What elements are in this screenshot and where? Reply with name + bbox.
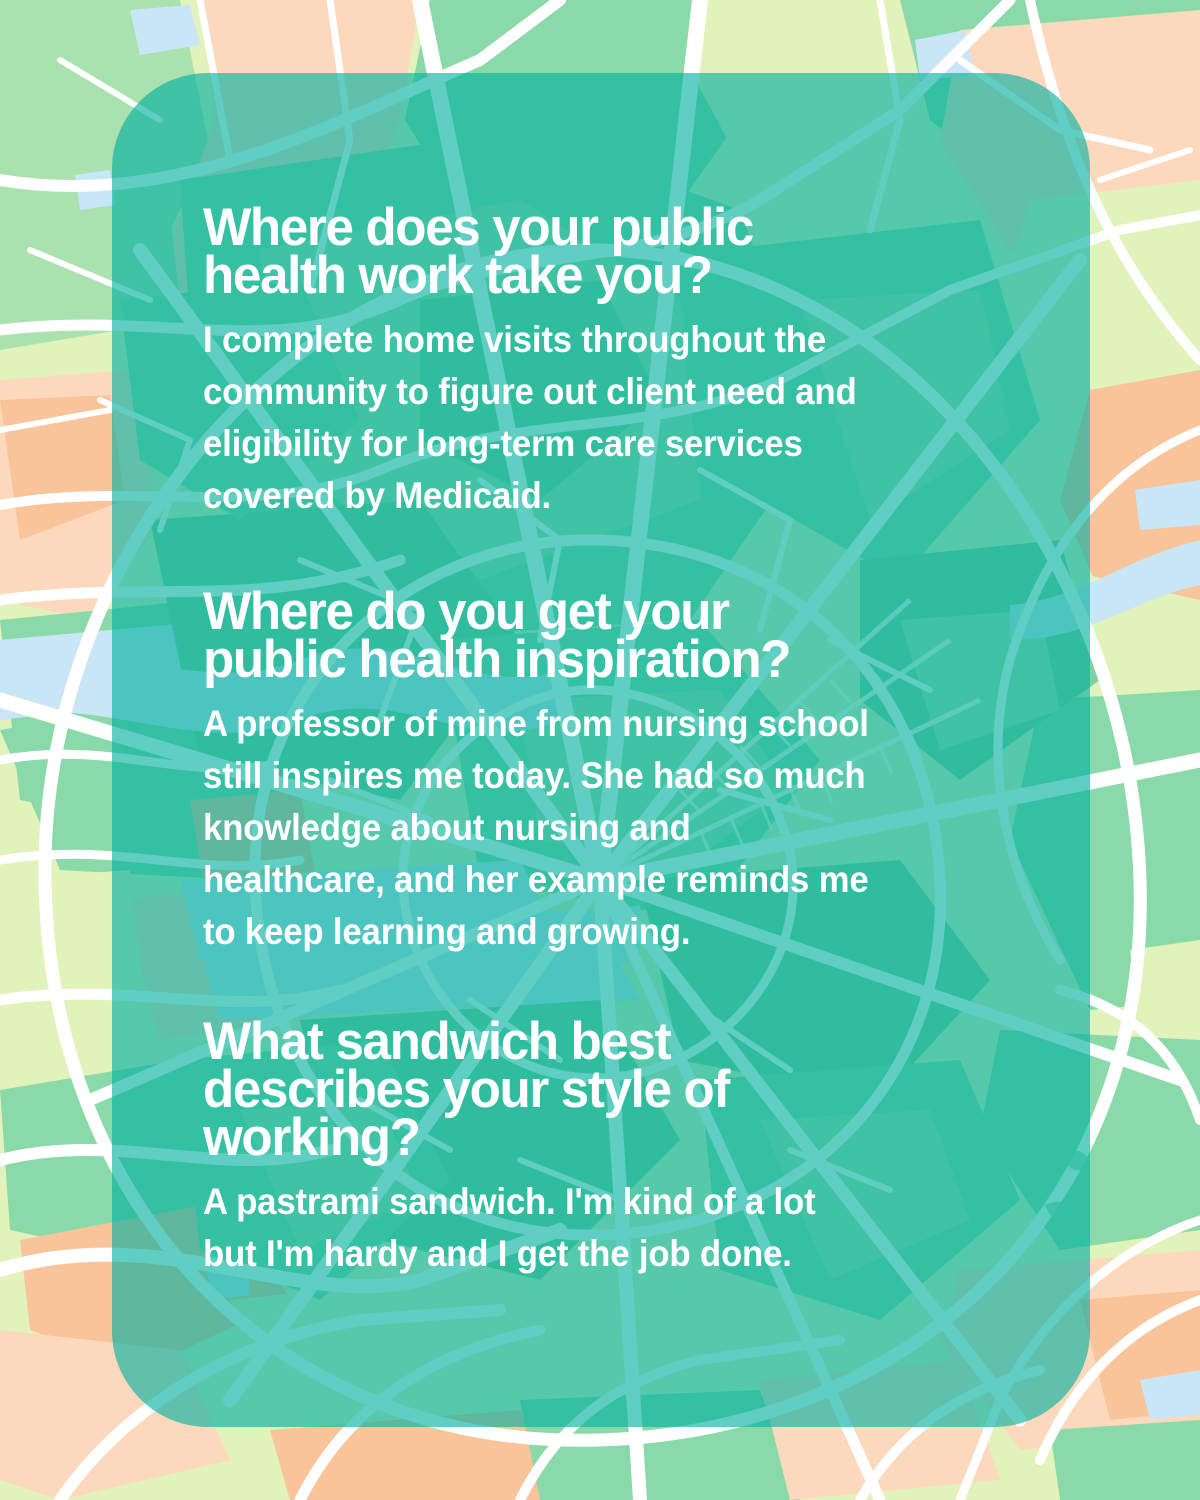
answer-text-3: A pastrami sandwich. I'm kind of a lot b… <box>203 1162 964 1280</box>
poster-page: .lg { fill:#e2f2bb; } .mg { fill:#a9e2ae… <box>0 0 1200 1500</box>
answer-text-2: A professor of mine from nursing school … <box>203 684 964 958</box>
qa-block-2: Where do you get your public health insp… <box>203 588 1013 958</box>
question-heading-1: Where does your public health work take … <box>203 204 985 300</box>
qa-block-3: What sandwich best describes your style … <box>203 1018 1013 1280</box>
qa-block-1: Where does your public health work take … <box>203 204 1013 522</box>
question-heading-2: Where do you get your public health insp… <box>203 588 985 684</box>
answer-text-1: I complete home visits throughout the co… <box>203 300 964 522</box>
question-heading-3: What sandwich best describes your style … <box>203 1018 985 1162</box>
qa-content: Where does your public health work take … <box>203 0 1013 1500</box>
